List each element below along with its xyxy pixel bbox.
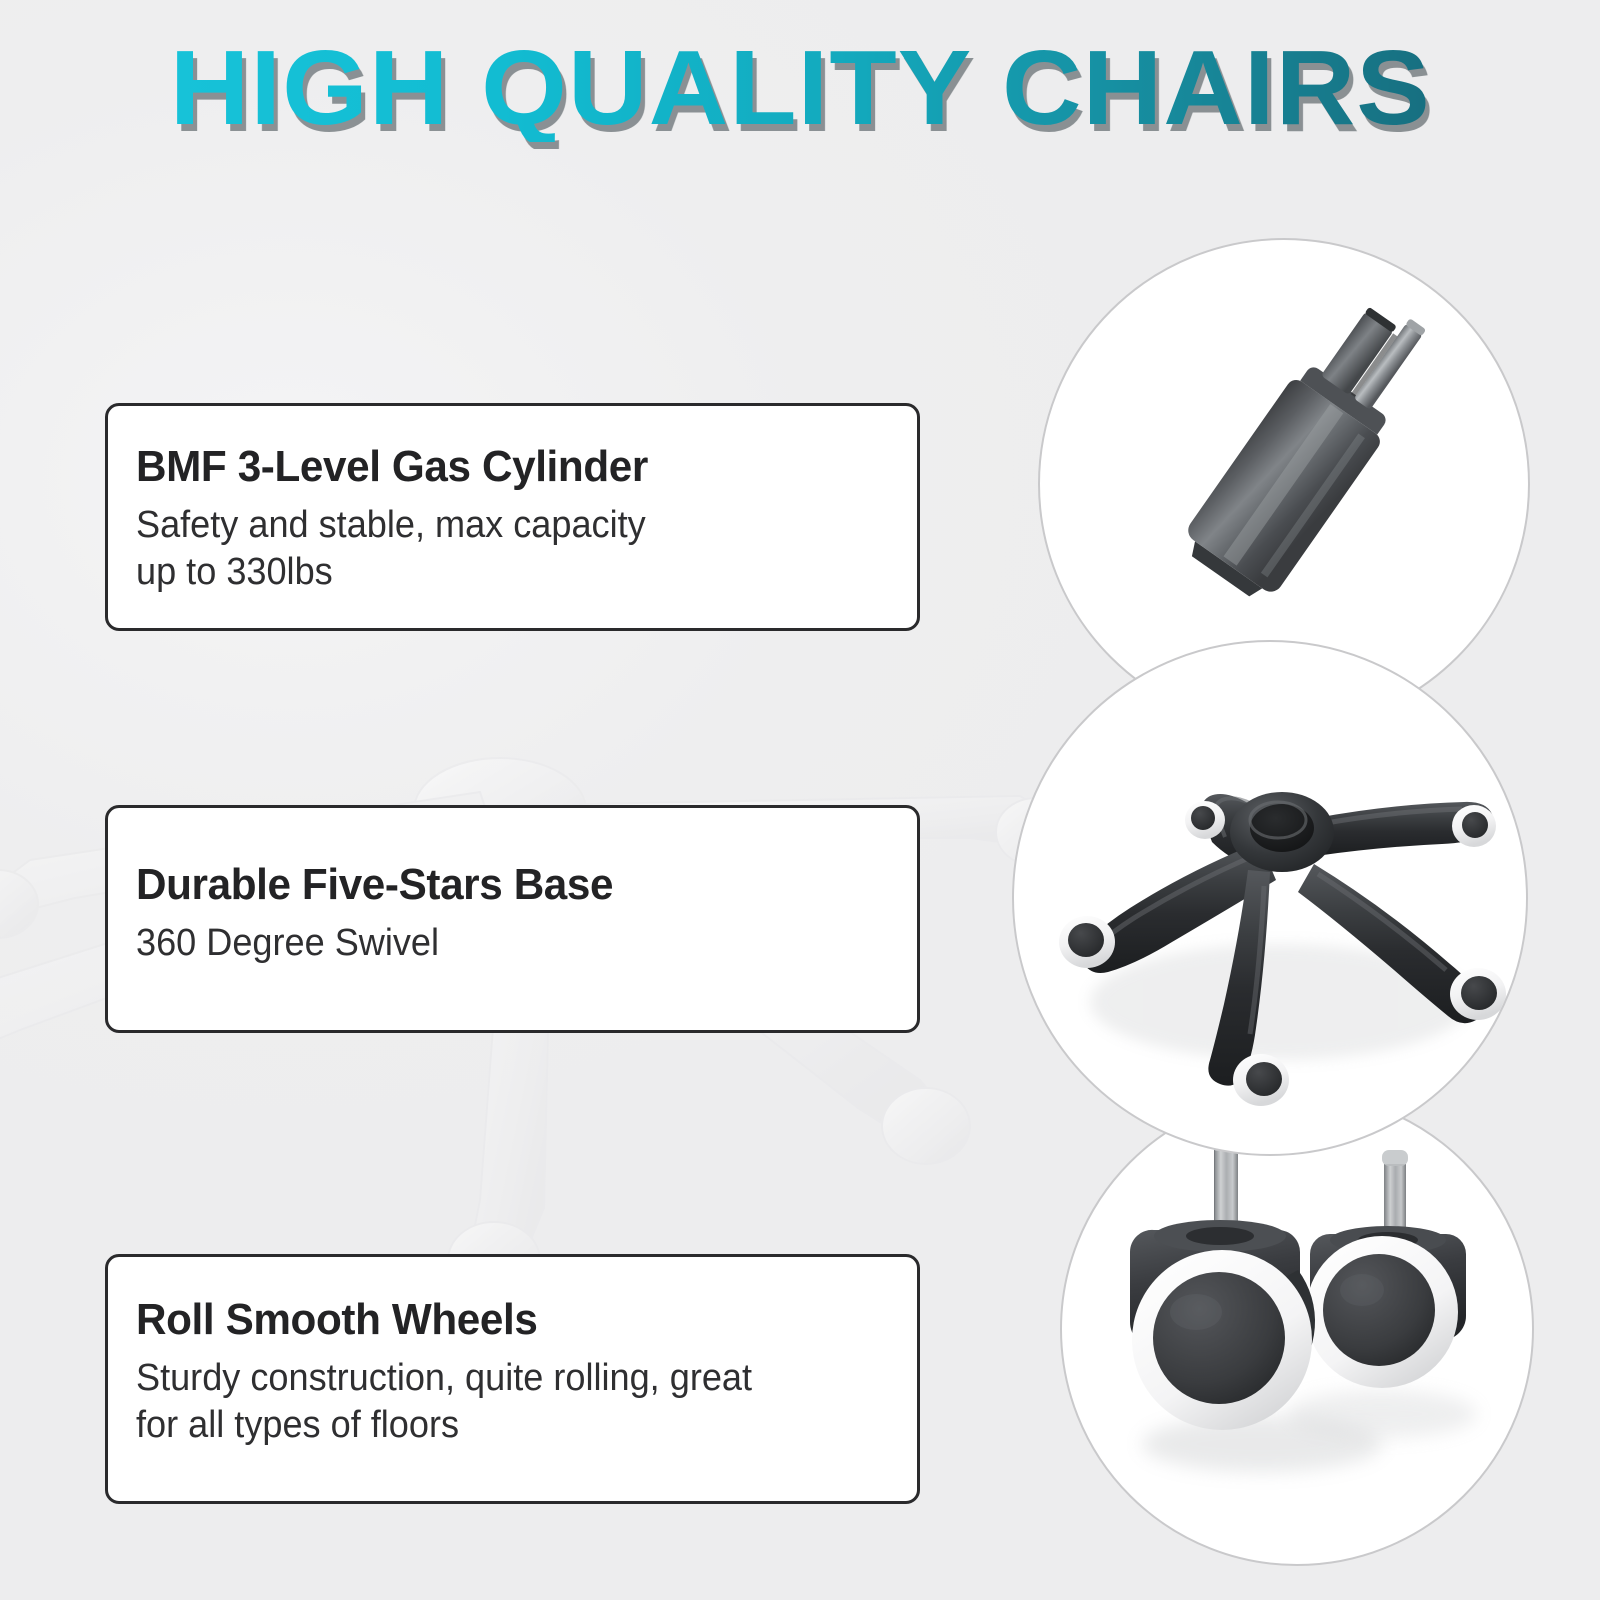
caster-wheel-left [1130, 1134, 1315, 1430]
feature-description-roll-smooth-wheels: Sturdy construction, quite rolling, grea… [136, 1355, 849, 1449]
caster-wheel-right [1306, 1150, 1466, 1388]
feature-title-five-stars-base: Durable Five-Stars Base [136, 860, 857, 910]
feature-card-roll-smooth-wheels: Roll Smooth Wheels Sturdy construction, … [105, 1254, 920, 1504]
infographic-page: HIGH QUALITY CHAIRS BMF 3-Level Gas Cyli… [0, 0, 1600, 1600]
caster-wheel [1452, 805, 1496, 847]
feature-card-five-stars-base: Durable Five-Stars Base 360 Degree Swive… [105, 805, 920, 1033]
feature-description-five-stars-base: 360 Degree Swivel [136, 920, 849, 967]
product-circle-five-star-base [1012, 640, 1528, 1156]
feature-title-gas-cylinder: BMF 3-Level Gas Cylinder [136, 442, 857, 492]
page-title-wrapper: HIGH QUALITY CHAIRS [0, 34, 1600, 142]
feature-card-gas-cylinder: BMF 3-Level Gas Cylinder Safety and stab… [105, 403, 920, 631]
caster-wheel [1450, 968, 1506, 1020]
feature-title-roll-smooth-wheels: Roll Smooth Wheels [136, 1295, 857, 1345]
gas-cylinder-group [1176, 283, 1450, 608]
feature-description-gas-cylinder: Safety and stable, max capacity up to 33… [136, 502, 849, 596]
caster-wheel [1185, 801, 1225, 839]
page-title: HIGH QUALITY CHAIRS [169, 34, 1430, 142]
caster-wheel [1059, 916, 1115, 968]
product-circle-caster-wheels [1060, 1092, 1534, 1566]
caster-wheel [1233, 1054, 1289, 1106]
